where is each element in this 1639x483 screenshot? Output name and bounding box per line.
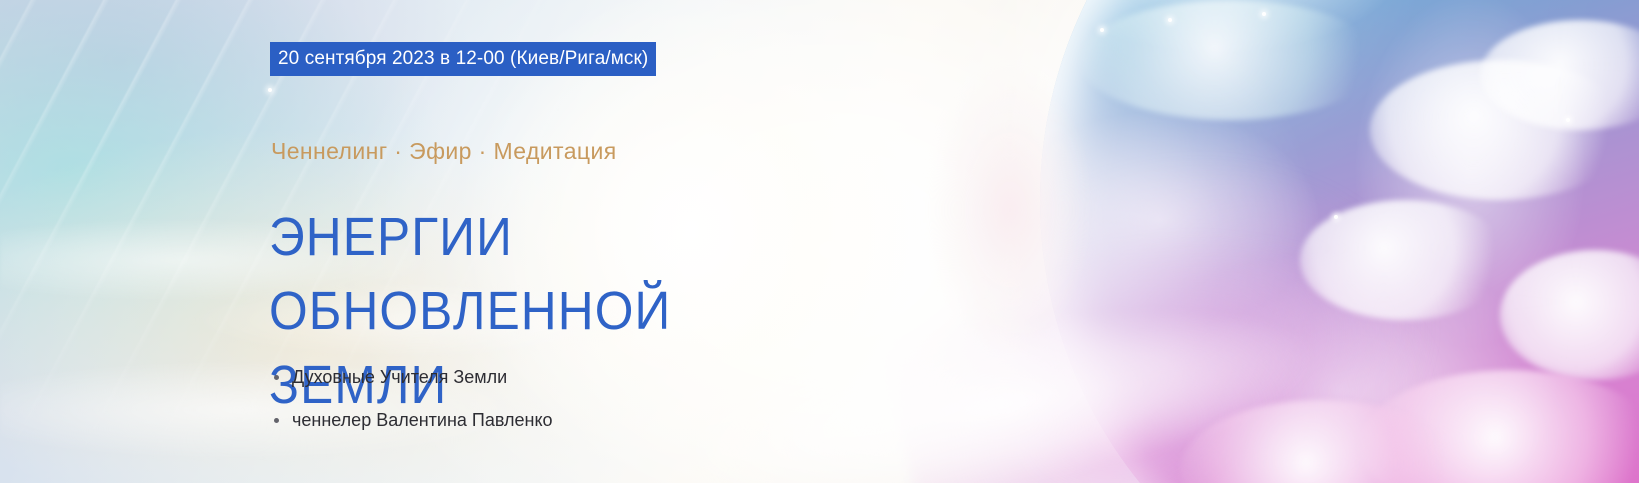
event-format-kicker: Ченнелинг · Эфир · Медитация	[271, 138, 617, 166]
promo-banner: 20 сентября 2023 в 12-00 (Киев/Рига/мск)…	[0, 0, 1639, 483]
banner-content: 20 сентября 2023 в 12-00 (Киев/Рига/мск)…	[0, 0, 1639, 483]
event-date-badge: 20 сентября 2023 в 12-00 (Киев/Рига/мск)	[270, 42, 656, 76]
event-details-list: Духовные Учителя Земли ченнелер Валентин…	[272, 368, 553, 454]
list-item: Духовные Учителя Земли	[272, 368, 553, 386]
list-item: ченнелер Валентина Павленко	[272, 411, 553, 429]
page-title-line-1: ЭНЕРГИИ ОБНОВЛЕННОЙ	[269, 200, 839, 348]
